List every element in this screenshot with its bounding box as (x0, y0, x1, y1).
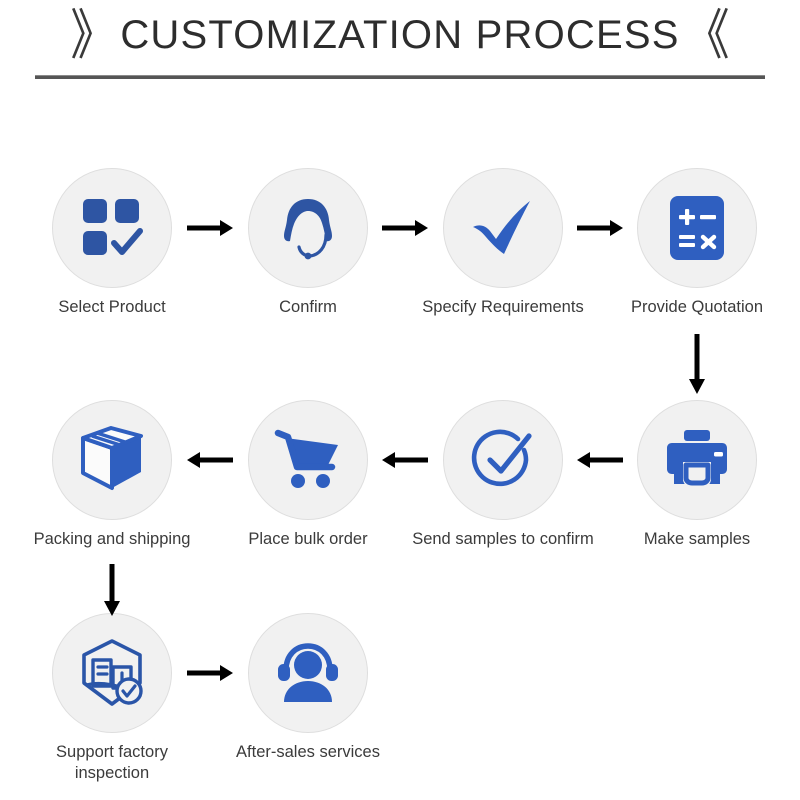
step-label: Select Product (22, 297, 202, 318)
step-icon-circle (248, 613, 368, 733)
page-title: CUSTOMIZATION PROCESS (116, 12, 683, 58)
page-header: 》CUSTOMIZATION PROCESS《 (0, 0, 800, 90)
chevron-left-double-icon: 《 (684, 8, 730, 62)
arrow-make-samples-to-send-samples (576, 450, 624, 470)
title-row: 》CUSTOMIZATION PROCESS《 (0, 12, 800, 58)
step-confirm[interactable]: Confirm (218, 168, 398, 318)
step-icon-circle (52, 613, 172, 733)
step-icon-circle (52, 400, 172, 520)
step-icon-circle (248, 400, 368, 520)
factory-inspection-shield-icon (77, 638, 147, 708)
step-after-sales-services[interactable]: After-sales services (218, 613, 398, 763)
step-send-samples-to-confirm[interactable]: Send samples to confirm (413, 400, 593, 550)
checkmark-icon (470, 198, 536, 258)
shopping-cart-icon (274, 429, 342, 491)
arrow-send-samples-to-place-bulk-order (381, 450, 429, 470)
step-label: Specify Requirements (413, 297, 593, 318)
step-packing-and-shipping[interactable]: Packing and shipping (22, 400, 202, 550)
step-place-bulk-order[interactable]: Place bulk order (218, 400, 398, 550)
step-specify-requirements[interactable]: Specify Requirements (413, 168, 593, 318)
step-label: Provide Quotation (607, 297, 787, 318)
operator-headset-icon (275, 195, 341, 261)
step-label: Packing and shipping (7, 529, 217, 550)
arrow-packing-to-support-factory-inspection (102, 563, 122, 617)
printer-icon (664, 429, 730, 491)
step-icon-circle (52, 168, 172, 288)
step-label: Send samples to confirm (398, 529, 608, 550)
step-label: Confirm (218, 297, 398, 318)
arrow-inspection-to-after-sales-services (186, 663, 234, 683)
package-box-icon (78, 426, 146, 494)
step-select-product[interactable]: Select Product (22, 168, 202, 318)
step-icon-circle (443, 400, 563, 520)
step-icon-circle (443, 168, 563, 288)
title-divider (35, 75, 765, 79)
step-label: Support factory inspection (22, 742, 202, 784)
arrow-provide-quotation-to-make-samples (687, 333, 707, 395)
arrow-specify-requirements-to-provide-quotation (576, 218, 624, 238)
step-make-samples[interactable]: Make samples (607, 400, 787, 550)
step-icon-circle (637, 168, 757, 288)
support-person-headphones-icon (274, 642, 342, 704)
step-label: After-sales services (218, 742, 398, 763)
step-label: Make samples (607, 529, 787, 550)
calculator-icon (669, 195, 725, 261)
grid-check-icon (81, 197, 143, 259)
step-icon-circle (637, 400, 757, 520)
arrow-confirm-to-specify-requirements (381, 218, 429, 238)
step-label: Place bulk order (218, 529, 398, 550)
arrow-select-product-to-confirm (186, 218, 234, 238)
step-provide-quotation[interactable]: Provide Quotation (607, 168, 787, 318)
check-circle-icon (469, 426, 537, 494)
step-icon-circle (248, 168, 368, 288)
step-support-factory-inspection[interactable]: Support factory inspection (22, 613, 202, 784)
chevron-right-double-icon: 》 (70, 8, 116, 62)
arrow-place-bulk-order-to-packing-and-shipping (186, 450, 234, 470)
